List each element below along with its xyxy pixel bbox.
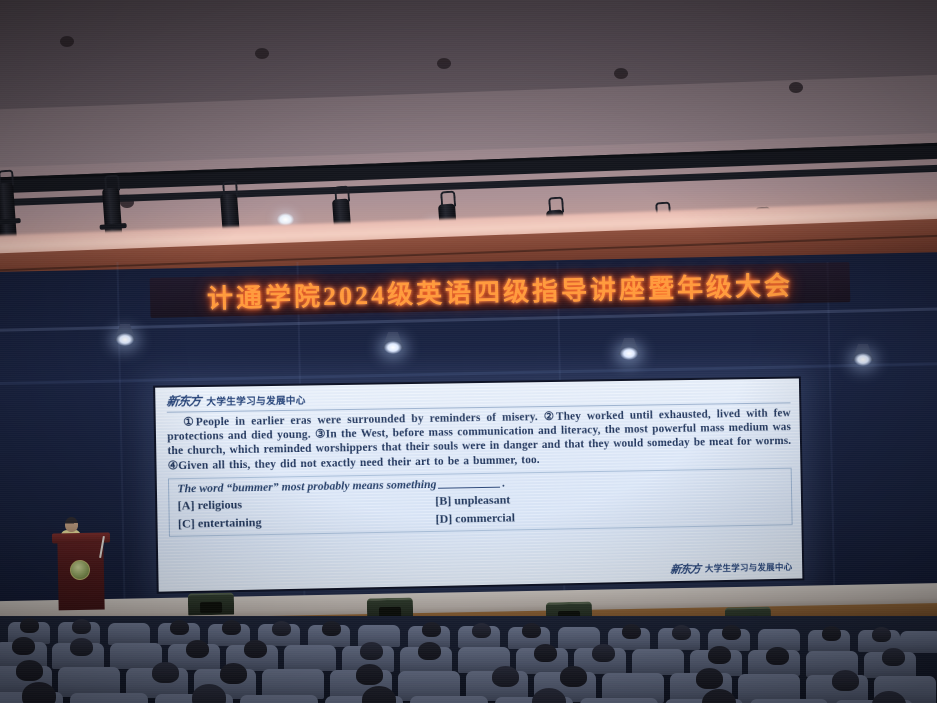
question-box: The word “bummer” most probably means so… — [168, 468, 793, 537]
audience-member — [186, 640, 209, 658]
ceiling-fixture-icon — [789, 82, 803, 93]
audience-member — [872, 627, 891, 642]
question-text: The word “bummer” most probably means so… — [177, 478, 436, 496]
option-d-text: commercial — [455, 510, 515, 525]
audience-member — [522, 623, 541, 638]
question-period: . — [502, 476, 505, 489]
ceiling-fixture-icon — [614, 68, 628, 79]
ceiling-fixture-icon — [255, 48, 269, 59]
audience-member — [20, 618, 39, 633]
audience-member — [16, 660, 43, 681]
audience-member — [622, 624, 641, 639]
audience-member — [72, 619, 91, 634]
new-oriental-logo-footer: 新东方 — [670, 561, 701, 578]
option-a-key: [A] — [177, 498, 194, 512]
auditorium-photo: 计通学院2024级英语四级指导讲座暨年级大会 新东方 大学生学习与发展中心 ①P… — [0, 0, 937, 703]
audience-member — [222, 620, 241, 635]
audience-member — [152, 662, 179, 683]
option-c-key: [C] — [178, 516, 195, 530]
pendant-light-icon — [614, 338, 644, 362]
audience-member — [22, 682, 56, 703]
answer-blank — [438, 486, 500, 488]
option-a: [A] religious — [177, 494, 435, 514]
pendant-light-icon — [848, 344, 878, 368]
slide-footer-subtitle: 大学生学习与发展中心 — [705, 561, 793, 575]
option-c: [C] entertaining — [178, 512, 436, 532]
audience-member — [12, 637, 35, 655]
option-c-text: entertaining — [198, 515, 262, 530]
audience-member — [244, 640, 267, 658]
option-b-key: [B] — [435, 493, 451, 507]
audience-member — [272, 621, 291, 636]
audience-member — [70, 638, 93, 656]
audience-member — [322, 621, 341, 636]
stage-monitor-speaker — [188, 593, 234, 616]
projection-screen-frame: 新东方 大学生学习与发展中心 ①People in earlier eras w… — [153, 376, 804, 593]
option-b-text: unpleasant — [454, 492, 510, 507]
audience-member — [822, 626, 841, 641]
option-d-key: [D] — [435, 511, 452, 525]
audience-member — [422, 622, 441, 637]
ceiling-fixture-icon — [437, 58, 451, 69]
audience-member — [356, 664, 383, 685]
audience-member — [766, 647, 789, 665]
pendant-light-icon — [378, 332, 408, 356]
audience-member — [882, 648, 905, 666]
audience-member — [220, 663, 247, 684]
audience-member — [592, 644, 615, 662]
audience-member — [832, 670, 859, 691]
audience-member — [722, 625, 741, 640]
slide-paragraph: ①People in earlier eras were surrounded … — [167, 406, 792, 473]
audience-member — [708, 646, 731, 664]
audience-member — [560, 666, 587, 687]
audience-member — [418, 642, 441, 660]
audience-member — [170, 620, 189, 635]
pendant-light-icon — [110, 324, 140, 348]
slide-header-subtitle: 大学生学习与发展中心 — [206, 392, 306, 408]
projection-screen: 新东方 大学生学习与发展中心 ①People in earlier eras w… — [155, 378, 802, 591]
audience-member — [672, 625, 691, 640]
audience-member — [534, 644, 557, 662]
speaker-head — [65, 517, 78, 532]
slide-footer: 新东方 大学生学习与发展中心 — [670, 559, 792, 577]
option-b: [B] unpleasant — [435, 492, 510, 508]
audience-area — [0, 616, 937, 703]
new-oriental-logo: 新东方 — [166, 392, 201, 410]
audience-member — [360, 642, 383, 660]
option-a-text: religious — [197, 497, 242, 512]
audience-member — [696, 668, 723, 689]
ceiling-fixture-icon — [60, 36, 74, 47]
audience-member — [492, 666, 519, 687]
option-d: [D] commercial — [435, 510, 515, 526]
audience-member — [472, 623, 491, 638]
